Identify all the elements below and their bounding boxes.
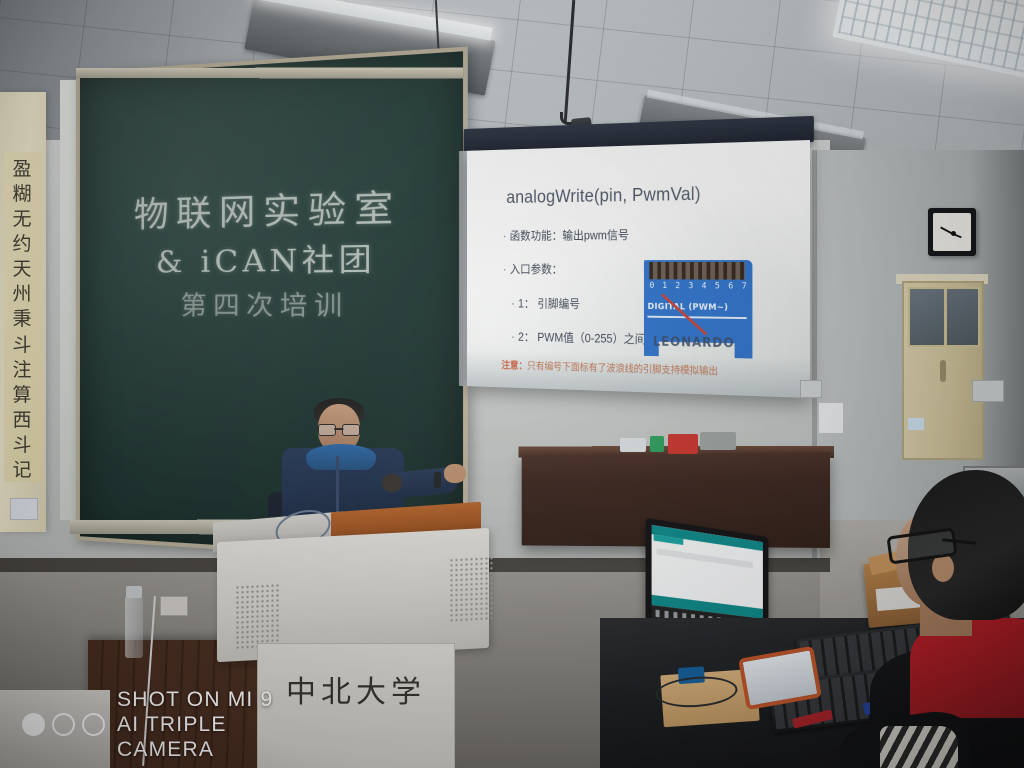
blackboard-top-rail <box>76 67 463 78</box>
blackboard-line-3: 第四次培训 <box>102 289 439 325</box>
bullet-marker: · <box>511 330 514 343</box>
scroll-characters: 盈 糊 无 约 天 州 秉 斗 注 算 西 斗 记 <box>6 160 38 480</box>
student-person <box>880 470 1024 768</box>
scroll-char: 注 <box>12 361 31 380</box>
pin-number: 5 <box>715 282 720 304</box>
door-notice <box>908 418 924 430</box>
pin-number: 7 <box>742 282 747 304</box>
scroll-char: 天 <box>12 260 31 279</box>
bullet-text: 函数功能：输出pwm信号 <box>510 229 629 243</box>
wristwatch <box>434 472 441 488</box>
bottle-cap <box>126 586 142 598</box>
laptop-screen <box>652 525 763 633</box>
scroll-char: 无 <box>12 210 31 229</box>
door-mullion <box>944 289 947 345</box>
photograph-scene: 盈 糊 无 约 天 州 秉 斗 注 算 西 斗 记 物联网实验室 & iCAN社… <box>0 0 1024 768</box>
bullet-text: 2： PWM值（0-255）之间 <box>518 330 646 346</box>
scroll-char: 约 <box>12 235 31 254</box>
pin-number: 2 <box>675 281 680 302</box>
usb-cable <box>655 674 739 710</box>
counter-items <box>620 436 750 454</box>
pin-number: 6 <box>728 282 733 304</box>
wall-sign <box>818 402 844 434</box>
arduino-board-name: LEONARDO <box>653 335 735 351</box>
clock-face <box>933 213 971 251</box>
lens-dot-outline <box>82 713 105 736</box>
scroll-seal <box>10 498 38 520</box>
wall-junction-box <box>972 380 1004 402</box>
screen-side-edge <box>459 151 467 386</box>
watermark-text: SHOT ON MI 9 AI TRIPLE CAMERA <box>117 687 312 762</box>
hoodie-collar <box>306 444 376 470</box>
blackboard-line-2: & iCAN社团 <box>102 238 439 282</box>
pin-number: 0 <box>649 281 654 302</box>
clock-center <box>951 231 956 236</box>
lens-dot-outline <box>52 713 75 736</box>
wall-outlet <box>800 380 822 398</box>
water-bottle <box>125 596 143 658</box>
door-window <box>908 287 980 347</box>
scroll-char: 州 <box>12 285 31 304</box>
arduino-pin-numbers: 7 6 5 4 3 2 1 0 <box>649 281 746 303</box>
lens-right <box>342 424 360 436</box>
eyeglasses-icon <box>318 424 360 434</box>
striped-fabric <box>880 726 958 768</box>
floor-outlet <box>160 596 188 616</box>
speaker-grille <box>235 583 279 651</box>
lens-dot-filled <box>22 713 45 736</box>
bullet-marker: · <box>511 297 514 310</box>
speaker-grille <box>449 556 493 624</box>
bullet-marker: · <box>503 263 506 276</box>
wall-clock <box>928 208 976 256</box>
red-box <box>668 434 698 454</box>
gray-item <box>700 432 736 450</box>
bullet-text: 1： 引脚编号 <box>518 297 580 311</box>
scroll-char: 算 <box>12 386 31 405</box>
pin-number: 4 <box>702 281 707 302</box>
lectern-body <box>217 528 489 662</box>
ide-code-line <box>657 548 753 568</box>
door-handle[interactable] <box>940 360 946 382</box>
screen-surface: analogWrite(pin, PwmVal) ·函数功能：输出pwm信号 ·… <box>467 140 810 398</box>
blackboard-writing: 物联网实验室 & iCAN社团 第四次培训 <box>102 185 439 324</box>
scroll-char: 记 <box>12 461 31 480</box>
presenter-hand <box>444 464 466 483</box>
pin-number: 3 <box>688 281 693 302</box>
green-container <box>650 436 664 452</box>
bullet-text: 入口参数： <box>510 263 563 276</box>
camera-lens-icon <box>22 713 105 736</box>
scroll-char: 斗 <box>12 336 31 355</box>
blackboard-line-1: 物联网实验室 <box>102 185 439 238</box>
projection-screen: analogWrite(pin, PwmVal) ·函数功能：输出pwm信号 ·… <box>467 118 810 408</box>
calligraphy-scroll: 盈 糊 无 约 天 州 秉 斗 注 算 西 斗 记 <box>0 92 46 532</box>
presenter-hand <box>382 474 402 492</box>
scroll-char: 西 <box>12 411 31 430</box>
paper-item <box>620 438 646 452</box>
scroll-char: 糊 <box>12 185 31 204</box>
screen-bottom-shade <box>467 350 810 398</box>
watermark-line-1: SHOT ON MI 9 <box>117 687 312 712</box>
bullet-marker: · <box>503 230 506 243</box>
watermark-line-2: AI TRIPLE CAMERA <box>117 712 312 762</box>
lens-left <box>318 424 336 436</box>
scroll-char: 盈 <box>12 160 31 179</box>
arduino-header-label: DIGITAL (PWM~) <box>648 302 749 313</box>
scroll-char: 斗 <box>12 436 31 455</box>
camera-watermark: SHOT ON MI 9 AI TRIPLE CAMERA <box>22 694 312 754</box>
hoodie-zipper <box>336 456 339 512</box>
scroll-char: 秉 <box>12 310 31 329</box>
